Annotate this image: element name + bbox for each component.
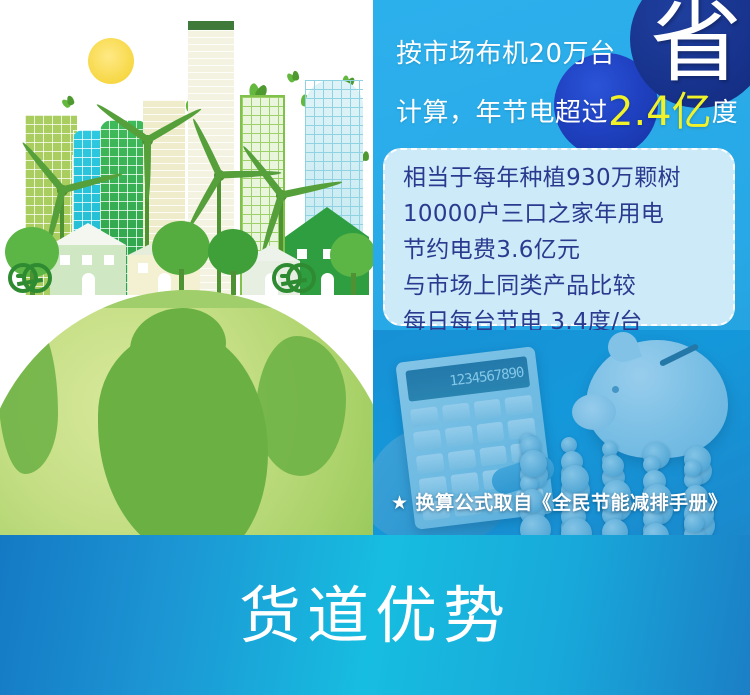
stats-panel: 省 按市场布机20万台 计算，年节电超过2.4亿度 相当于每年种植930万颗树 … [373,0,750,535]
headline-highlight-value: 2.4亿 [608,89,712,135]
fact-line: 相当于每年种植930万颗树 [403,162,733,195]
continent-asia [256,336,346,476]
house-white [50,223,126,295]
globe-ground [0,290,373,308]
headline-line-2: 计算，年节电超过2.4亿度 [396,92,738,132]
infographic-page: 省 按市场布机20万台 计算，年节电超过2.4亿度 相当于每年种植930万颗树 … [0,0,750,695]
butterfly-icon [286,69,302,83]
bottom-banner: 货道优势 [0,535,750,695]
fact-line: 10000户三口之家年用电 [403,198,733,231]
eco-illustration-panel [0,0,373,535]
sun-icon [88,38,134,84]
fact-line: 节约电费3.6亿元 [403,234,733,267]
tree-2 [152,221,210,295]
headline-suffix: 度 [712,98,739,128]
fact-line: 与市场上同类产品比较 [403,270,733,303]
headline-line-1: 按市场布机20万台 [396,33,616,70]
banner-title: 货道优势 [239,585,511,647]
tree-3 [208,229,258,295]
headline-prefix: 计算，年节电超过 [396,98,608,128]
continent-america [0,324,58,474]
save-badge-character: 省 [650,0,742,88]
green-earth-globe [0,290,373,535]
credit-note: ★ 换算公式取自《全民节能减排手册》 [391,488,728,515]
tree-4 [330,233,373,295]
fact-box: 相当于每年种植930万颗树 10000户三口之家年用电 节约电费3.6亿元 与市… [383,148,735,326]
